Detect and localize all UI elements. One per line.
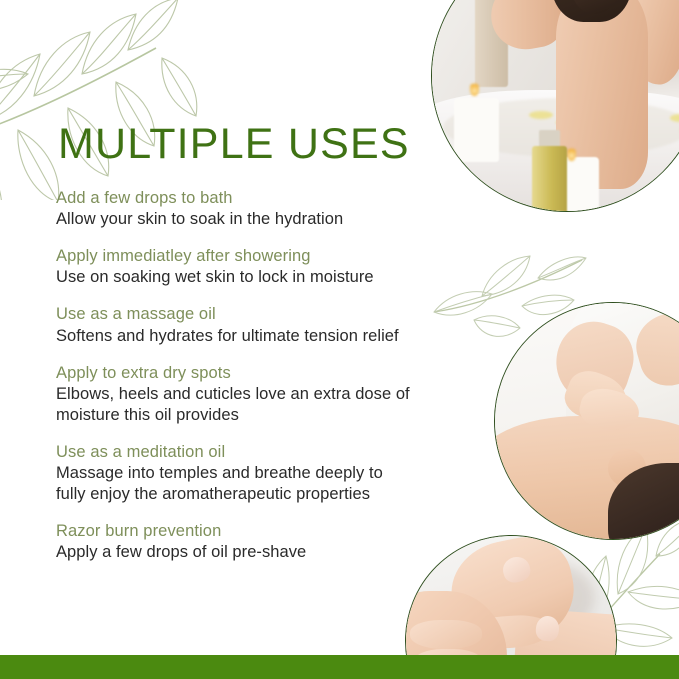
uses-list: Add a few drops to bath Allow your skin … xyxy=(56,188,436,564)
use-heading: Add a few drops to bath xyxy=(56,188,436,209)
use-body-line: Allow your skin to soak in the hydration xyxy=(56,209,436,230)
list-item: Apply to extra dry spots Elbows, heels a… xyxy=(56,363,436,426)
use-heading: Use as a massage oil xyxy=(56,304,436,325)
leaf-branch-top-left-icon xyxy=(0,0,206,200)
list-item: Add a few drops to bath Allow your skin … xyxy=(56,188,436,230)
footer-accent-bar xyxy=(0,655,679,679)
use-body-line: moisture this oil provides xyxy=(56,405,436,426)
use-heading: Razor burn prevention xyxy=(56,521,436,542)
woman-in-bath-photo xyxy=(431,0,679,212)
massage-photo xyxy=(494,302,679,540)
use-body-line: Elbows, heels and cuticles love an extra… xyxy=(56,384,436,405)
use-heading: Apply to extra dry spots xyxy=(56,363,436,384)
use-body-line: fully enjoy the aromatherapeutic propert… xyxy=(56,484,436,505)
use-body-line: Softens and hydrates for ultimate tensio… xyxy=(56,326,436,347)
use-heading: Apply immediatley after showering xyxy=(56,246,436,267)
list-item: Razor burn prevention Apply a few drops … xyxy=(56,521,436,563)
use-heading: Use as a meditation oil xyxy=(56,442,436,463)
use-body-line: Use on soaking wet skin to lock in moist… xyxy=(56,267,436,288)
use-body-line: Apply a few drops of oil pre-shave xyxy=(56,542,436,563)
use-body-line: Massage into temples and breathe deeply … xyxy=(56,463,436,484)
page-title: MULTIPLE USES xyxy=(58,123,410,166)
infographic-canvas: MULTIPLE USES Add a few drops to bath Al… xyxy=(0,0,679,679)
list-item: Use as a meditation oil Massage into tem… xyxy=(56,442,436,505)
list-item: Use as a massage oil Softens and hydrate… xyxy=(56,304,436,346)
list-item: Apply immediatley after showering Use on… xyxy=(56,246,436,288)
